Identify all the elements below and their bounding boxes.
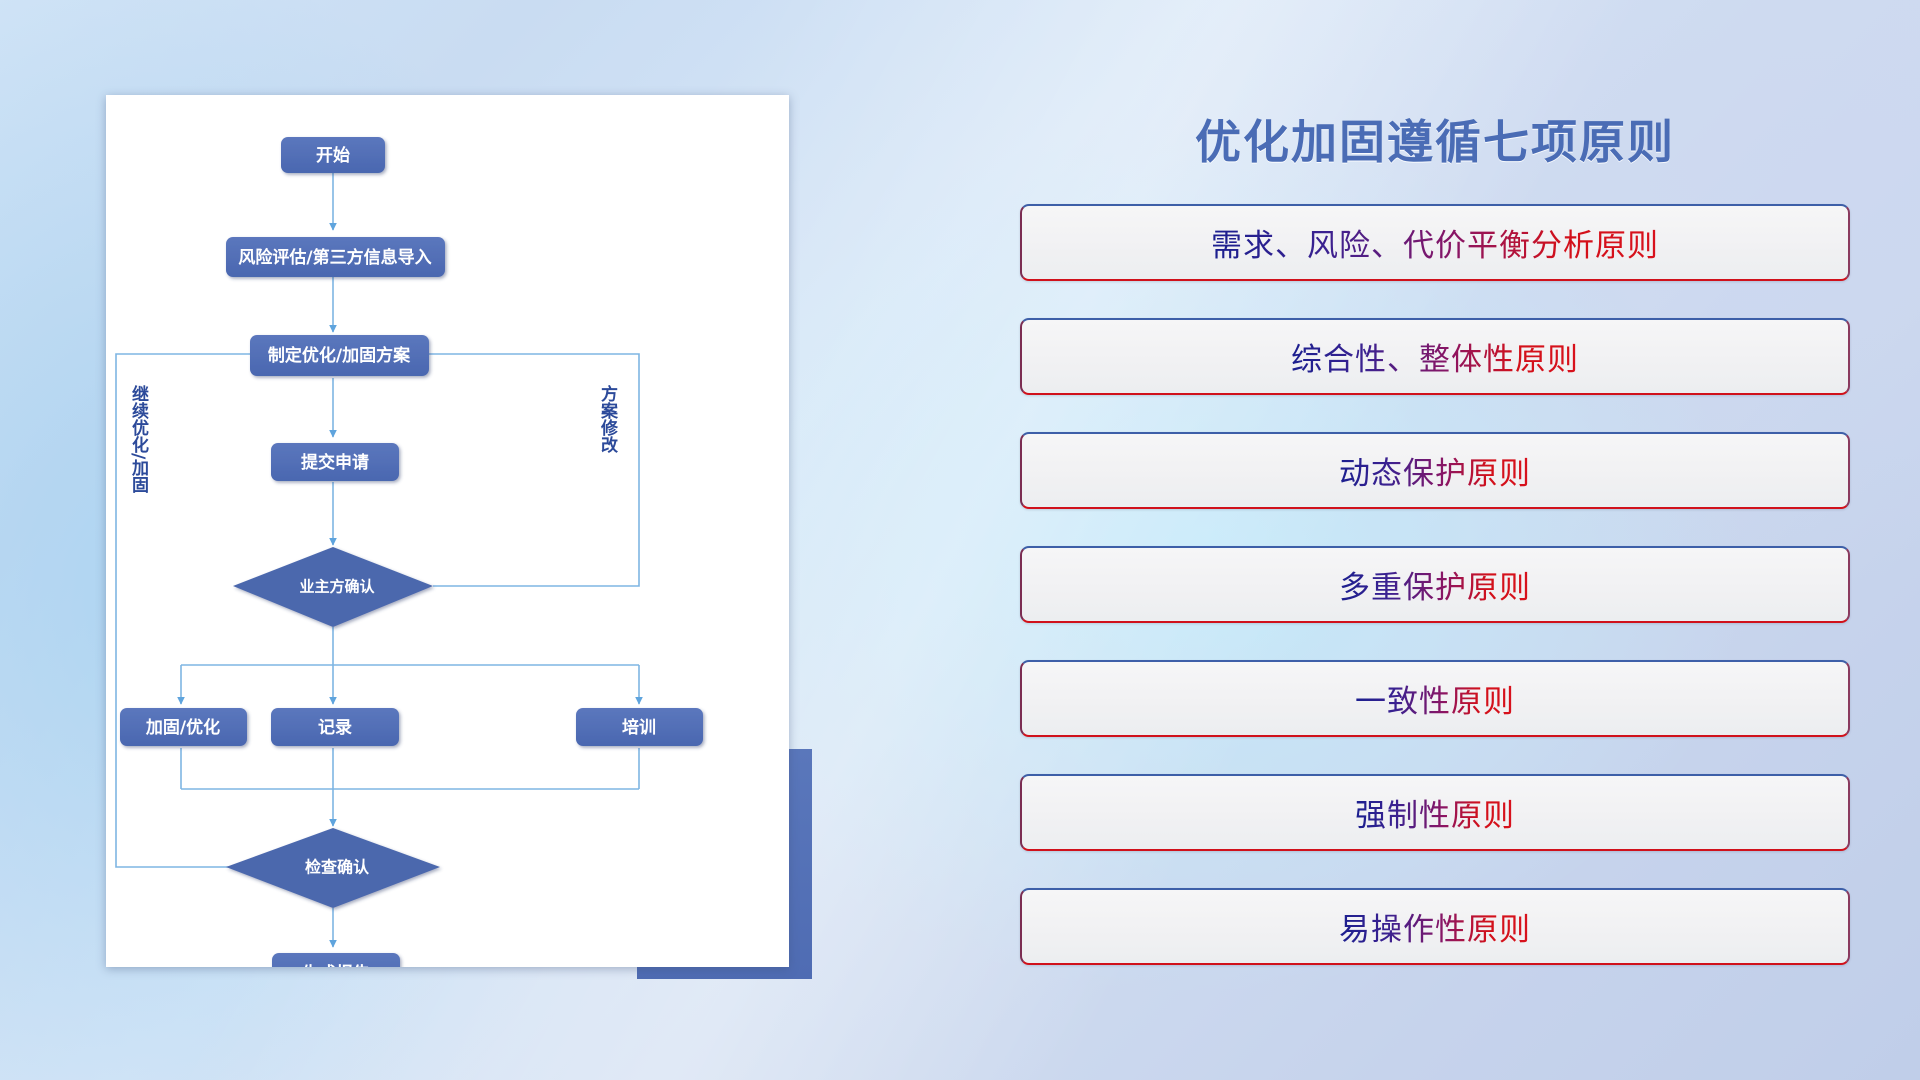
principle-label: 一致性原则 bbox=[1355, 676, 1515, 721]
flow-node-record-label: 记录 bbox=[318, 718, 352, 738]
principles-panel: 优化加固遵循七项原则 需求、风险、代价平衡分析原则 综合性、整体性原则 动态保护… bbox=[1020, 100, 1850, 1000]
flow-node-report-label: 生成报告 bbox=[302, 963, 370, 967]
principle-card-4[interactable]: 多重保护原则 bbox=[1020, 546, 1850, 623]
flow-node-risk[interactable]: 风险评估/第三方信息导入 bbox=[226, 237, 445, 277]
principle-label: 需求、风险、代价平衡分析原则 bbox=[1211, 220, 1659, 265]
principle-card-3[interactable]: 动态保护原则 bbox=[1020, 432, 1850, 509]
flow-node-start[interactable]: 开始 bbox=[281, 137, 385, 173]
principle-card-7[interactable]: 易操作性原则 bbox=[1020, 888, 1850, 965]
edge-label-plan-revision: 方案修改 bbox=[597, 384, 619, 454]
principle-label: 强制性原则 bbox=[1355, 790, 1515, 835]
flow-node-report[interactable]: 生成报告 bbox=[272, 953, 400, 967]
flowchart-diagram: 开始 风险评估/第三方信息导入 制定优化/加固方案 提交申请 业主方确认 加固/… bbox=[106, 95, 789, 967]
edge-label-continue-optimize: 继续优化/加固 bbox=[128, 384, 150, 494]
flow-node-submit-label: 提交申请 bbox=[301, 452, 369, 473]
principle-card-1[interactable]: 需求、风险、代价平衡分析原则 bbox=[1020, 204, 1850, 281]
flow-node-risk-label: 风险评估/第三方信息导入 bbox=[238, 247, 431, 268]
flow-node-train-label: 培训 bbox=[622, 717, 656, 738]
flow-node-start-label: 开始 bbox=[316, 145, 350, 166]
page-title: 优化加固遵循七项原则 bbox=[1020, 106, 1850, 172]
principle-card-6[interactable]: 强制性原则 bbox=[1020, 774, 1850, 851]
flow-node-reinforce-label: 加固/优化 bbox=[145, 717, 220, 738]
principle-label: 综合性、整体性原则 bbox=[1291, 334, 1579, 379]
flow-node-owner-confirm[interactable]: 业主方确认 bbox=[233, 547, 433, 627]
principle-label: 易操作性原则 bbox=[1339, 904, 1531, 949]
flow-node-check[interactable]: 检查确认 bbox=[226, 828, 440, 908]
flow-node-train[interactable]: 培训 bbox=[576, 708, 703, 746]
flow-node-check-label: 检查确认 bbox=[305, 858, 370, 877]
flow-node-record[interactable]: 记录 bbox=[271, 708, 399, 746]
flow-node-plan-label: 制定优化/加固方案 bbox=[268, 345, 411, 366]
flow-node-owner-confirm-label: 业主方确认 bbox=[299, 578, 375, 596]
flow-node-reinforce[interactable]: 加固/优化 bbox=[120, 708, 247, 746]
flow-node-submit[interactable]: 提交申请 bbox=[271, 443, 399, 481]
principle-label: 多重保护原则 bbox=[1339, 562, 1531, 607]
flow-node-plan[interactable]: 制定优化/加固方案 bbox=[250, 335, 429, 376]
principle-card-2[interactable]: 综合性、整体性原则 bbox=[1020, 318, 1850, 395]
principle-card-5[interactable]: 一致性原则 bbox=[1020, 660, 1850, 737]
principle-label: 动态保护原则 bbox=[1339, 448, 1531, 493]
slide-canvas: 开始 风险评估/第三方信息导入 制定优化/加固方案 提交申请 业主方确认 加固/… bbox=[0, 0, 1920, 1080]
